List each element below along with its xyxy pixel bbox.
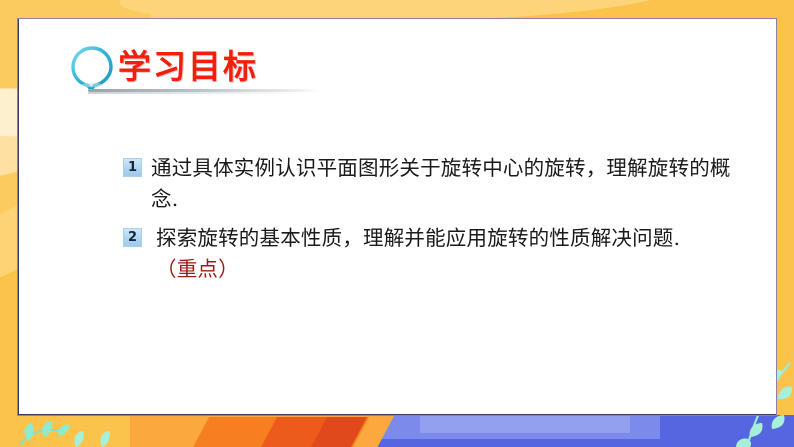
title-underline-shadow — [88, 92, 302, 94]
key-point-label: （重点） — [156, 257, 239, 281]
slide-root: 学习目标 1 通过具体实例认识平面图形关于旋转中心的旋转，理解旋转的概念. 2 … — [0, 0, 794, 447]
objective-text: 探索旋转的基本性质，理解并能应用旋转的性质解决问题. — [156, 226, 680, 250]
objective-number-badge: 2 — [123, 228, 142, 247]
bottom-blue-wave-inner — [420, 415, 630, 433]
page-title: 学习目标 — [118, 40, 258, 88]
objectives-list: 1 通过具体实例认识平面图形关于旋转中心的旋转，理解旋转的概念. 2 探索旋转的… — [123, 153, 753, 293]
objective-text: 通过具体实例认识平面图形关于旋转中心的旋转，理解旋转的概念. — [123, 153, 753, 215]
list-item: 2 探索旋转的基本性质，理解并能应用旋转的性质解决问题.（重点） — [123, 223, 753, 285]
magnifier-circle-icon — [70, 45, 114, 89]
objective-text-wrapper: 探索旋转的基本性质，理解并能应用旋转的性质解决问题.（重点） — [123, 223, 753, 285]
content-card: 学习目标 1 通过具体实例认识平面图形关于旋转中心的旋转，理解旋转的概念. 2 … — [17, 18, 777, 416]
list-item: 1 通过具体实例认识平面图形关于旋转中心的旋转，理解旋转的概念. — [123, 153, 753, 215]
objective-number-badge: 1 — [123, 158, 142, 177]
